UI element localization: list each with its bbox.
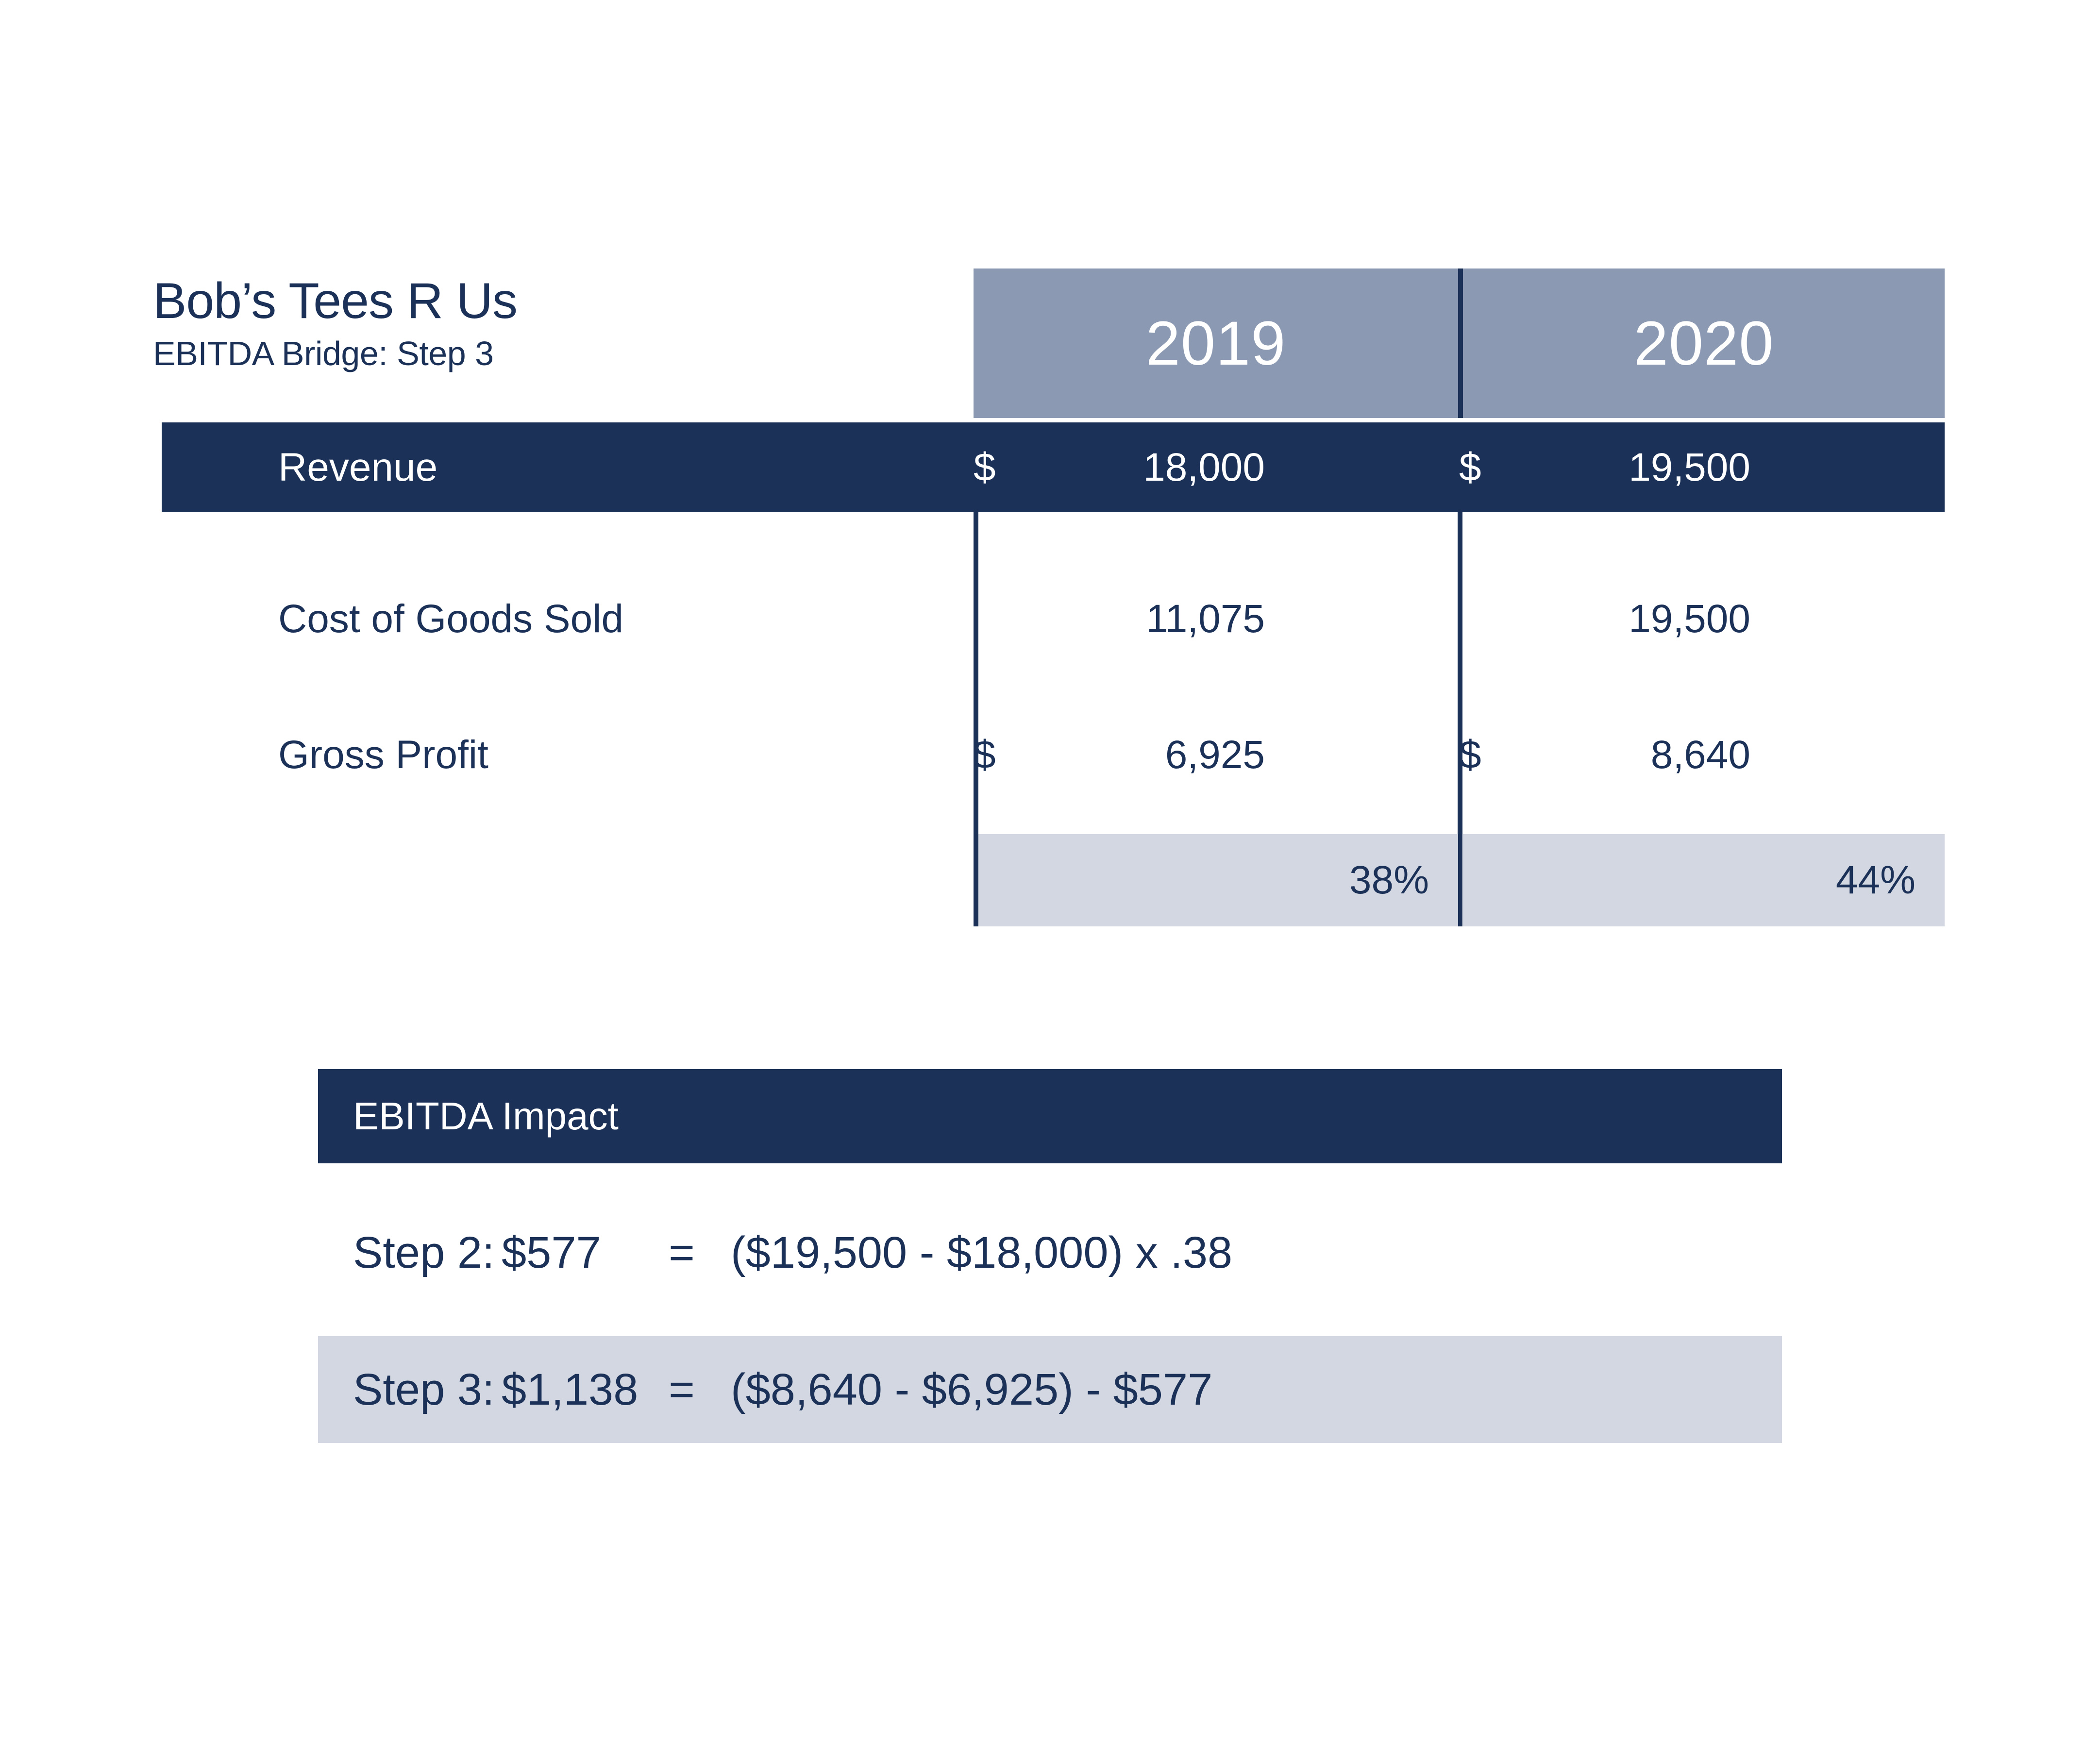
- row-label-cost-of-goods-sold: Cost of Goods Sold: [278, 596, 623, 642]
- cell-amount: 6,925: [1037, 732, 1265, 778]
- cell-margin-percent-2020: 44%: [1463, 834, 1945, 926]
- cell-amount: 19,500: [1522, 596, 1750, 642]
- cell-gross-profit-2020: $ 8,640: [1459, 732, 1750, 778]
- currency-symbol: $: [974, 445, 1037, 490]
- cell-gross-profit-2019: $ 6,925: [974, 732, 1265, 778]
- row-label-gross-profit: Gross Profit: [278, 732, 488, 778]
- table-row-revenue: Revenue $ 18,000 $ 19,500: [162, 422, 1945, 512]
- cell-amount: 11,075: [1037, 596, 1265, 642]
- step-2-value: $577: [502, 1227, 633, 1278]
- cell-cogs-2019: 11,075: [974, 596, 1265, 642]
- cell-revenue-2019: $ 18,000: [974, 445, 1265, 490]
- column-divider-header: [1458, 268, 1463, 418]
- cell-amount: 19,500: [1522, 445, 1750, 490]
- ebitda-step-2-row: Step 2: $577 = ($19,500 - $18,000) x .38: [318, 1199, 1782, 1306]
- step-2-label: Step 2:: [353, 1227, 484, 1278]
- cell-cogs-2020: 19,500: [1459, 596, 1750, 642]
- table-row-cost-of-goods-sold: Cost of Goods Sold 11,075 19,500: [162, 571, 1945, 668]
- cell-revenue-2020: $ 19,500: [1459, 445, 1750, 490]
- ebitda-step-3-row: Step 3: $1,138 = ($8,640 - $6,925) - $57…: [318, 1336, 1782, 1443]
- currency-symbol: $: [974, 732, 1037, 778]
- row-label-revenue: Revenue: [278, 445, 437, 490]
- step-3-value: $1,138: [502, 1364, 633, 1415]
- currency-symbol: $: [1459, 732, 1522, 778]
- column-header-2019: 2019: [974, 268, 1458, 418]
- column-header-2020: 2020: [1463, 268, 1945, 418]
- table-row-gross-profit: Gross Profit $ 6,925 $ 8,640: [162, 706, 1945, 804]
- table-row-gross-margin-percent: 38% 44%: [974, 834, 1945, 926]
- ebitda-impact-header: EBITDA Impact: [318, 1069, 1782, 1163]
- ebitda-impact-header-label: EBITDA Impact: [353, 1094, 619, 1139]
- currency-symbol: [974, 596, 1037, 642]
- table-header-row: 2019 2020: [974, 268, 1945, 418]
- title-block: Bob’s Tees R Us EBITDA Bridge: Step 3: [153, 274, 930, 373]
- step-3-expression: ($8,640 - $6,925) - $577: [731, 1364, 1212, 1415]
- page-subtitle: EBITDA Bridge: Step 3: [153, 335, 930, 372]
- cell-margin-percent-2019: 38%: [978, 834, 1458, 926]
- step-3-equals: =: [655, 1364, 708, 1415]
- cell-amount: 18,000: [1037, 445, 1265, 490]
- step-2-equals: =: [655, 1227, 708, 1278]
- currency-symbol: [1459, 596, 1522, 642]
- step-2-expression: ($19,500 - $18,000) x .38: [731, 1227, 1232, 1278]
- currency-symbol: $: [1459, 445, 1522, 490]
- step-3-label: Step 3:: [353, 1364, 484, 1415]
- page-title: Bob’s Tees R Us: [153, 274, 930, 328]
- cell-amount: 8,640: [1522, 732, 1750, 778]
